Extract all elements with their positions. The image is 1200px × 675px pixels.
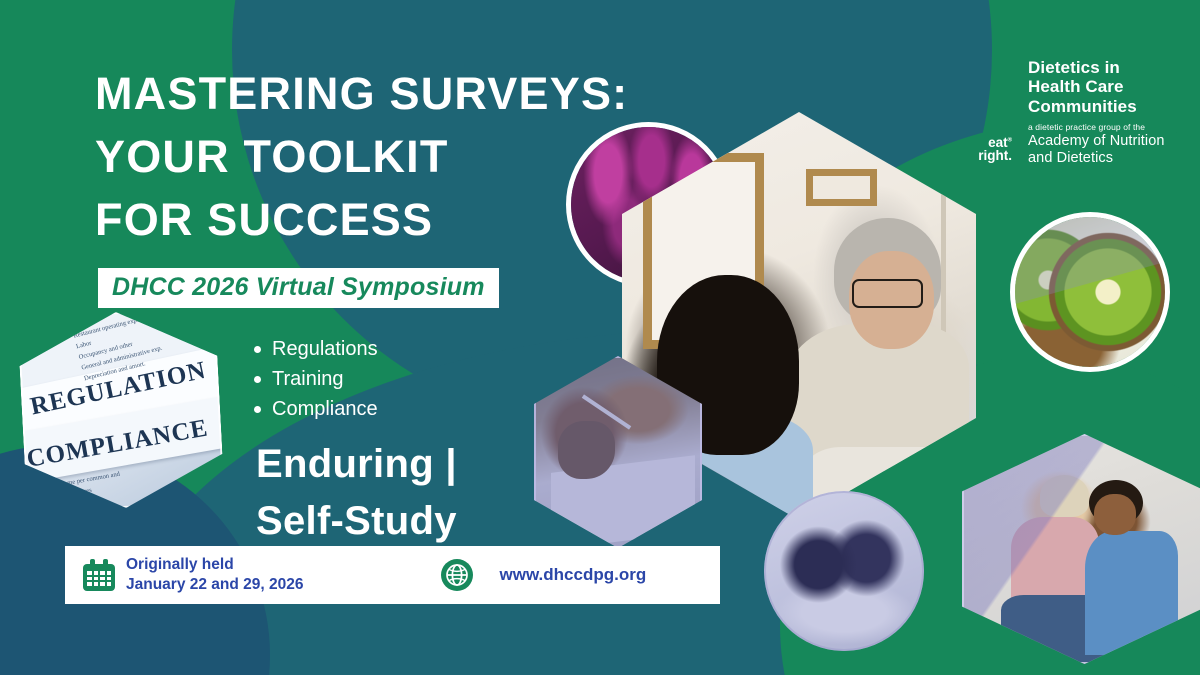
format-label-line-2: Self-Study: [256, 493, 457, 550]
page-title: Mastering Surveys: Your Toolkit For Succ…: [95, 62, 628, 251]
eat-right-mark: eat® right.: [960, 137, 1012, 163]
list-item: Compliance: [252, 394, 378, 424]
eat-right-mark-line-2: right.: [960, 150, 1012, 163]
logo-parent-org: Academy of Nutrition and Dietetics: [1028, 133, 1182, 166]
registered-trademark-icon: ®: [1008, 138, 1012, 144]
list-item: Training: [252, 364, 378, 394]
poster-canvas: Restaurant operating expensesLaborOccupa…: [0, 0, 1200, 675]
event-date-line-2: January 22 and 29, 2026: [126, 575, 304, 595]
page-title-line-1: Mastering Surveys:: [95, 62, 628, 125]
topics-list: Regulations Training Compliance: [252, 334, 378, 424]
logo-name-line-3: Communities: [1028, 97, 1182, 116]
format-label: Enduring | Self-Study: [256, 436, 457, 550]
page-title-line-3: For Success: [95, 188, 628, 251]
list-item: Regulations: [252, 334, 378, 364]
logo-name-line-1: Dietetics in: [1028, 58, 1182, 77]
date-group: Originally held January 22 and 29, 2026: [83, 555, 304, 595]
event-subtitle-banner: DHCC 2026 Virtual Symposium: [98, 268, 499, 308]
website-url[interactable]: www.dhccdpg.org: [500, 565, 647, 585]
photo-blackberries: [764, 491, 924, 651]
website-group[interactable]: www.dhccdpg.org: [440, 558, 647, 592]
info-bar: Originally held January 22 and 29, 2026 …: [65, 546, 720, 604]
event-subtitle-text: DHCC 2026 Virtual Symposium: [112, 273, 485, 301]
event-date: Originally held January 22 and 29, 2026: [126, 555, 304, 595]
page-title-line-2: Your Toolkit: [95, 125, 628, 188]
logo-parent-org-line-2: and Dietetics: [1028, 150, 1182, 166]
photo-blackberries-border: [764, 491, 924, 651]
calendar-icon: [83, 559, 115, 591]
logo-tagline: a dietetic practice group of the: [1028, 123, 1182, 132]
logo-parent-org-line-1: Academy of Nutrition: [1028, 133, 1182, 149]
event-date-line-1: Originally held: [126, 555, 304, 575]
organization-logo: Dietetics in Health Care Communities a d…: [1012, 58, 1182, 166]
photo-kiwi: [1010, 212, 1170, 372]
logo-name: Dietetics in Health Care Communities: [1028, 58, 1182, 116]
globe-icon: [440, 558, 474, 592]
scene-senior-glasses: [852, 279, 923, 308]
logo-name-line-2: Health Care: [1028, 77, 1182, 96]
format-label-line-1: Enduring |: [256, 436, 457, 493]
scene-wall-shelf: [806, 169, 877, 206]
